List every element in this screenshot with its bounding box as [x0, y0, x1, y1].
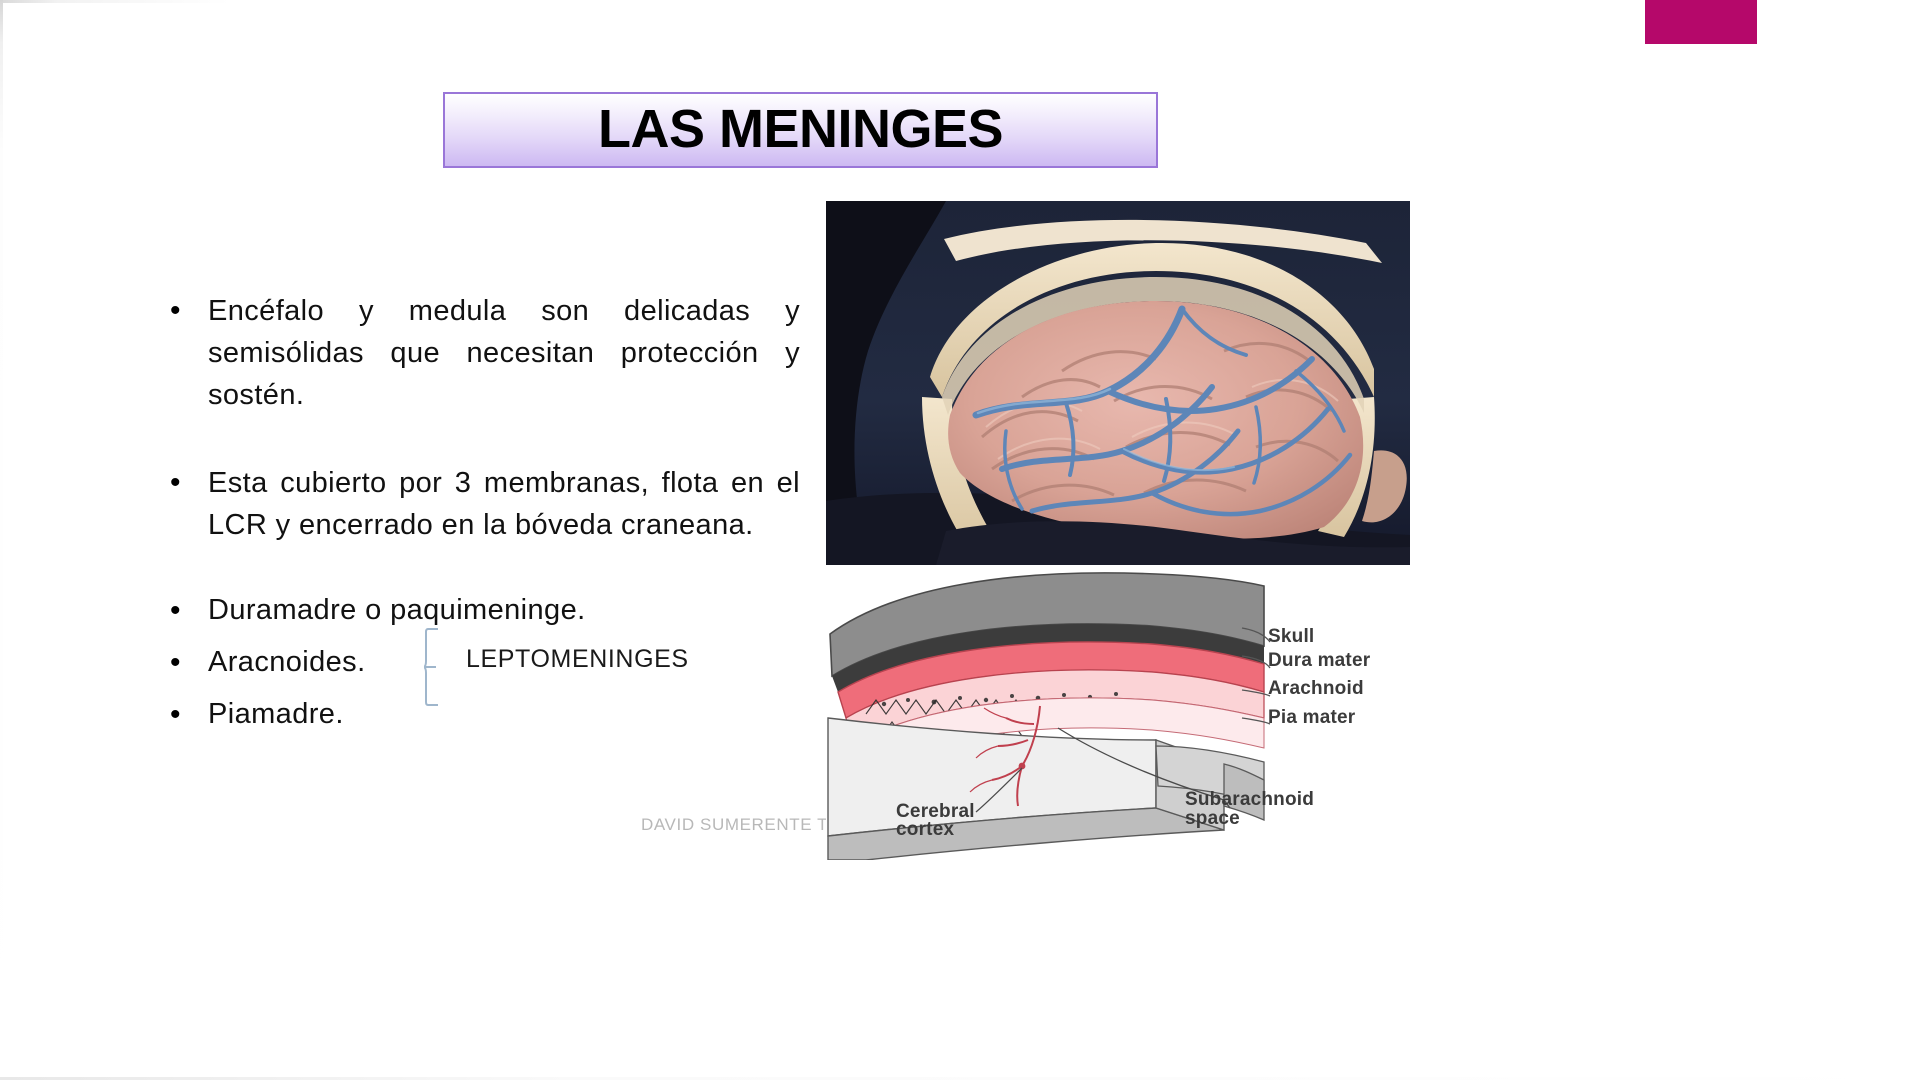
- list-item: • Esta cubierto por 3 membranas, flota e…: [160, 462, 800, 546]
- diagram-label-dura-mater: Dura mater: [1268, 650, 1370, 672]
- slide-title-box: LAS MENINGES: [443, 92, 1158, 168]
- bullet-content-column: • Encéfalo y medula son delicadas y semi…: [160, 290, 800, 746]
- list-item: • Duramadre o paquimeninge.: [160, 590, 800, 632]
- magenta-accent-block: [1645, 0, 1757, 44]
- bullet-marker-icon: •: [160, 590, 208, 632]
- leptomeninges-bracket-icon: [424, 628, 448, 706]
- bullet-spacer: [160, 546, 800, 590]
- diagram-label-subarachnoid-space-line2: space: [1185, 808, 1240, 830]
- list-item: • Piamadre.: [160, 694, 800, 736]
- brain-in-situ-photo: [826, 201, 1410, 565]
- slide-edge-left: [0, 0, 3, 1080]
- diagram-label-pia-mater: Pia mater: [1268, 707, 1355, 729]
- slide-edge-top: [0, 0, 1920, 3]
- bullet-marker-icon: •: [160, 290, 208, 332]
- diagram-label-skull: Skull: [1268, 626, 1314, 648]
- bullet-marker-icon: •: [160, 642, 208, 684]
- presentation-slide: LAS MENINGES • Encéfalo y medula son del…: [0, 0, 1920, 1080]
- list-item-label: Esta cubierto por 3 membranas, flota en …: [208, 462, 800, 546]
- leptomeninges-label: LEPTOMENINGES: [466, 645, 689, 674]
- list-item-label: Piamadre.: [208, 694, 800, 734]
- diagram-label-arachnoid: Arachnoid: [1268, 678, 1364, 700]
- list-item: • Encéfalo y medula son delicadas y semi…: [160, 290, 800, 416]
- bullet-marker-icon: •: [160, 694, 208, 736]
- diagram-label-cerebral-cortex-line2: cortex: [896, 819, 954, 841]
- bullet-spacer: [160, 416, 800, 462]
- bullet-marker-icon: •: [160, 462, 208, 504]
- list-item-label: Encéfalo y medula son delicadas y semisó…: [208, 290, 800, 416]
- page-title: LAS MENINGES: [598, 102, 1003, 156]
- list-item-label: Duramadre o paquimeninge.: [208, 590, 800, 630]
